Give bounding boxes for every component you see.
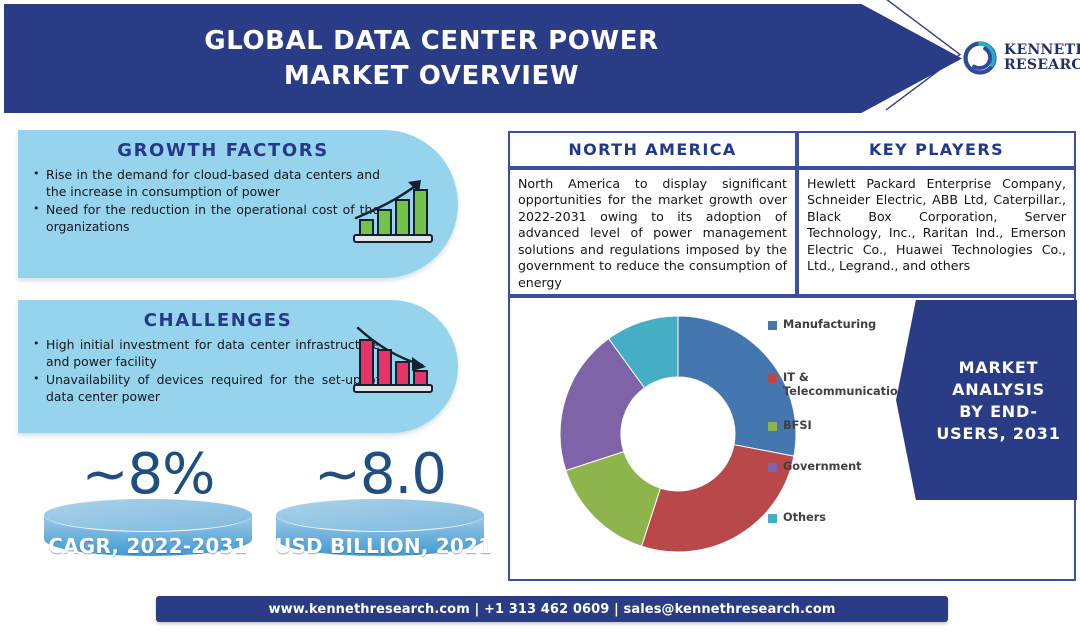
legend-swatch-icon (768, 321, 777, 330)
north-america-body: North America to display significant opp… (508, 168, 797, 296)
brand-logo-word-1: KENNETH (1004, 43, 1080, 58)
legend-item[interactable]: IT & Telecommunication (768, 371, 895, 399)
north-america-heading: NORTH AMERICA (510, 133, 795, 166)
donut-chart-svg (554, 310, 802, 558)
page-title-line-1: GLOBAL DATA CENTER POWER (204, 27, 658, 55)
legend-swatch-icon (768, 514, 777, 523)
list-item: Need for the reduction in the operationa… (32, 202, 380, 236)
banner-line-2: ANALYSIS (952, 380, 1045, 399)
stat-disc-cagr: ~8% CAGR, 2022-2031 (43, 446, 253, 566)
list-item: Unavailability of devices required for t… (32, 372, 380, 406)
challenges-list: High initial investment for data center … (18, 337, 380, 406)
brand-logo-text: KENNETH RESEARCH (1004, 43, 1080, 73)
north-america-header: NORTH AMERICA (508, 131, 797, 168)
ascending-bar-chart-icon (350, 174, 436, 246)
stat-label: USD BILLION, 2021 (275, 534, 485, 558)
banner-line-4: USERS, 2031 (936, 424, 1060, 443)
header-banner: GLOBAL DATA CENTER POWER MARKET OVERVIEW (4, 4, 962, 113)
legend-label: IT & Telecommunication (783, 371, 895, 399)
legend-swatch-icon (768, 374, 777, 383)
donut-chart (554, 310, 802, 558)
page-title-line-2: MARKET OVERVIEW (284, 62, 579, 90)
legend-label: Others (783, 511, 895, 525)
stat-disc-market-value: ~8.0 USD BILLION, 2021 (275, 446, 485, 566)
legend-swatch-icon (768, 463, 777, 472)
key-players-text: Hewlett Packard Enterprise Company, Schn… (799, 170, 1074, 279)
legend-label: BFSI (783, 419, 895, 433)
market-analysis-banner-text: MARKET ANALYSIS BY END- USERS, 2031 (920, 300, 1077, 500)
legend-item[interactable]: BFSI (768, 419, 895, 433)
north-america-text: North America to display significant opp… (510, 170, 795, 295)
footer-contact-text: www.kennethresearch.com | +1 313 462 060… (268, 602, 835, 617)
page-title: GLOBAL DATA CENTER POWER MARKET OVERVIEW (4, 4, 859, 113)
legend-swatch-icon (768, 422, 777, 431)
swirl-circle-icon (963, 41, 997, 75)
growth-factors-title: GROWTH FACTORS (18, 140, 458, 161)
banner-line-3: BY END- (959, 402, 1038, 421)
brand-logo-word-2: RESEARCH (1004, 58, 1080, 73)
market-analysis-banner: MARKET ANALYSIS BY END- USERS, 2031 (896, 300, 1077, 500)
legend-item[interactable]: Manufacturing (768, 318, 895, 332)
footer-contact-bar[interactable]: www.kennethresearch.com | +1 313 462 060… (156, 596, 948, 622)
brand-logo: KENNETH RESEARCH (963, 32, 1077, 84)
key-players-header: KEY PLAYERS (797, 131, 1076, 168)
growth-factors-card: GROWTH FACTORS Rise in the demand for cl… (18, 130, 458, 278)
challenges-card: CHALLENGES High initial investment for d… (18, 300, 458, 433)
key-players-body: Hewlett Packard Enterprise Company, Schn… (797, 168, 1076, 296)
list-item: Rise in the demand for cloud-based data … (32, 167, 380, 201)
legend-item[interactable]: Government (768, 460, 895, 474)
legend-label: Manufacturing (783, 318, 895, 332)
legend-label: Government (783, 460, 895, 474)
key-players-heading: KEY PLAYERS (799, 133, 1074, 166)
legend-item[interactable]: Others (768, 511, 895, 525)
stat-label: CAGR, 2022-2031 (43, 534, 253, 558)
header-banner-outline-echo (884, 0, 974, 111)
descending-bar-chart-icon (350, 324, 436, 396)
growth-factors-list: Rise in the demand for cloud-based data … (18, 167, 380, 236)
chart-legend: ManufacturingIT & TelecommunicationBFSIG… (768, 318, 904, 558)
list-item: High initial investment for data center … (32, 337, 380, 371)
banner-line-1: MARKET (959, 358, 1039, 377)
